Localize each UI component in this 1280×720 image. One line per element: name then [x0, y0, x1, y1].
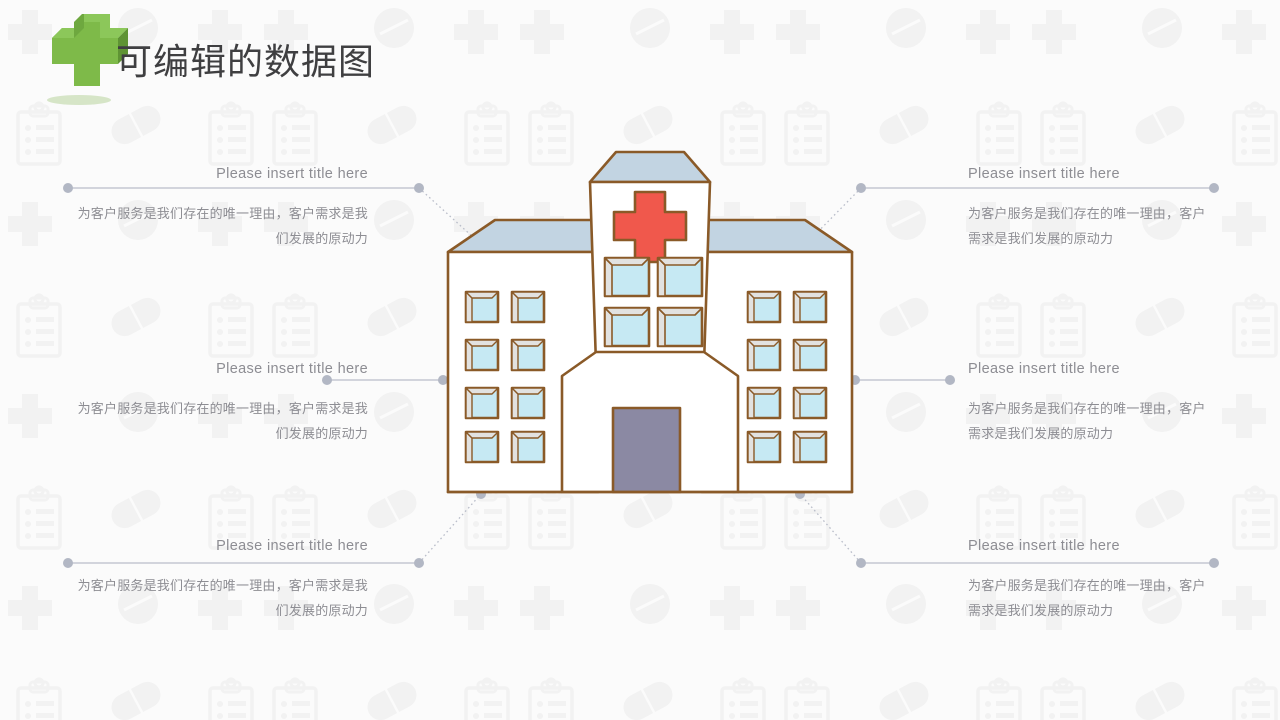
- callout-title: Please insert title here: [68, 537, 368, 555]
- callout-body: 为客户服务是我们存在的唯一理由，客户需求是我们发展的原动力: [968, 201, 1223, 251]
- window: [512, 388, 544, 418]
- window: [794, 388, 826, 418]
- callout-body: 为客户服务是我们存在的唯一理由，客户需求是我们发展的原动力: [968, 396, 1223, 446]
- callout-top-left[interactable]: Please insert title here 为客户服务是我们存在的唯一理由…: [68, 165, 368, 251]
- window: [466, 292, 498, 322]
- connector-dot-bottom-left-inner: [414, 558, 424, 568]
- callout-title: Please insert title here: [968, 360, 1223, 378]
- window: [748, 292, 780, 322]
- window: [658, 308, 702, 346]
- window: [605, 258, 649, 296]
- window: [794, 340, 826, 370]
- window: [512, 292, 544, 322]
- window: [794, 292, 826, 322]
- window: [512, 340, 544, 370]
- callout-title: Please insert title here: [968, 165, 1223, 183]
- callout-title: Please insert title here: [68, 165, 368, 183]
- page-title: 可编辑的数据图: [116, 38, 375, 86]
- callout-top-right[interactable]: Please insert title here 为客户服务是我们存在的唯一理由…: [968, 165, 1223, 251]
- window: [748, 432, 780, 462]
- window: [512, 432, 544, 462]
- window: [466, 432, 498, 462]
- callout-body: 为客户服务是我们存在的唯一理由，客户需求是我们发展的原动力: [68, 201, 368, 251]
- callout-title: Please insert title here: [68, 360, 368, 378]
- callout-title: Please insert title here: [968, 537, 1223, 555]
- connector-dot-bottom-right-inner: [856, 558, 866, 568]
- callout-body: 为客户服务是我们存在的唯一理由，客户需求是我们发展的原动力: [68, 396, 368, 446]
- window: [748, 340, 780, 370]
- window: [466, 388, 498, 418]
- callout-middle-left[interactable]: Please insert title here 为客户服务是我们存在的唯一理由…: [68, 360, 368, 446]
- callout-body: 为客户服务是我们存在的唯一理由，客户需求是我们发展的原动力: [968, 573, 1223, 623]
- entrance-door: [613, 408, 680, 492]
- callout-bottom-left[interactable]: Please insert title here 为客户服务是我们存在的唯一理由…: [68, 537, 368, 623]
- connector-dot-top-left-inner: [414, 183, 424, 193]
- callout-middle-right[interactable]: Please insert title here 为客户服务是我们存在的唯一理由…: [968, 360, 1223, 446]
- callout-body: 为客户服务是我们存在的唯一理由，客户需求是我们发展的原动力: [68, 573, 368, 623]
- green-cross-3d-icon: [22, 14, 130, 110]
- callout-bottom-right[interactable]: Please insert title here 为客户服务是我们存在的唯一理由…: [968, 537, 1223, 623]
- page-header: 可编辑的数据图: [0, 0, 1280, 120]
- window: [605, 308, 649, 346]
- window: [658, 258, 702, 296]
- window: [794, 432, 826, 462]
- hospital-building-illustration: [430, 140, 870, 510]
- connector-dot-middle-right-outer: [945, 375, 955, 385]
- window: [466, 340, 498, 370]
- window: [748, 388, 780, 418]
